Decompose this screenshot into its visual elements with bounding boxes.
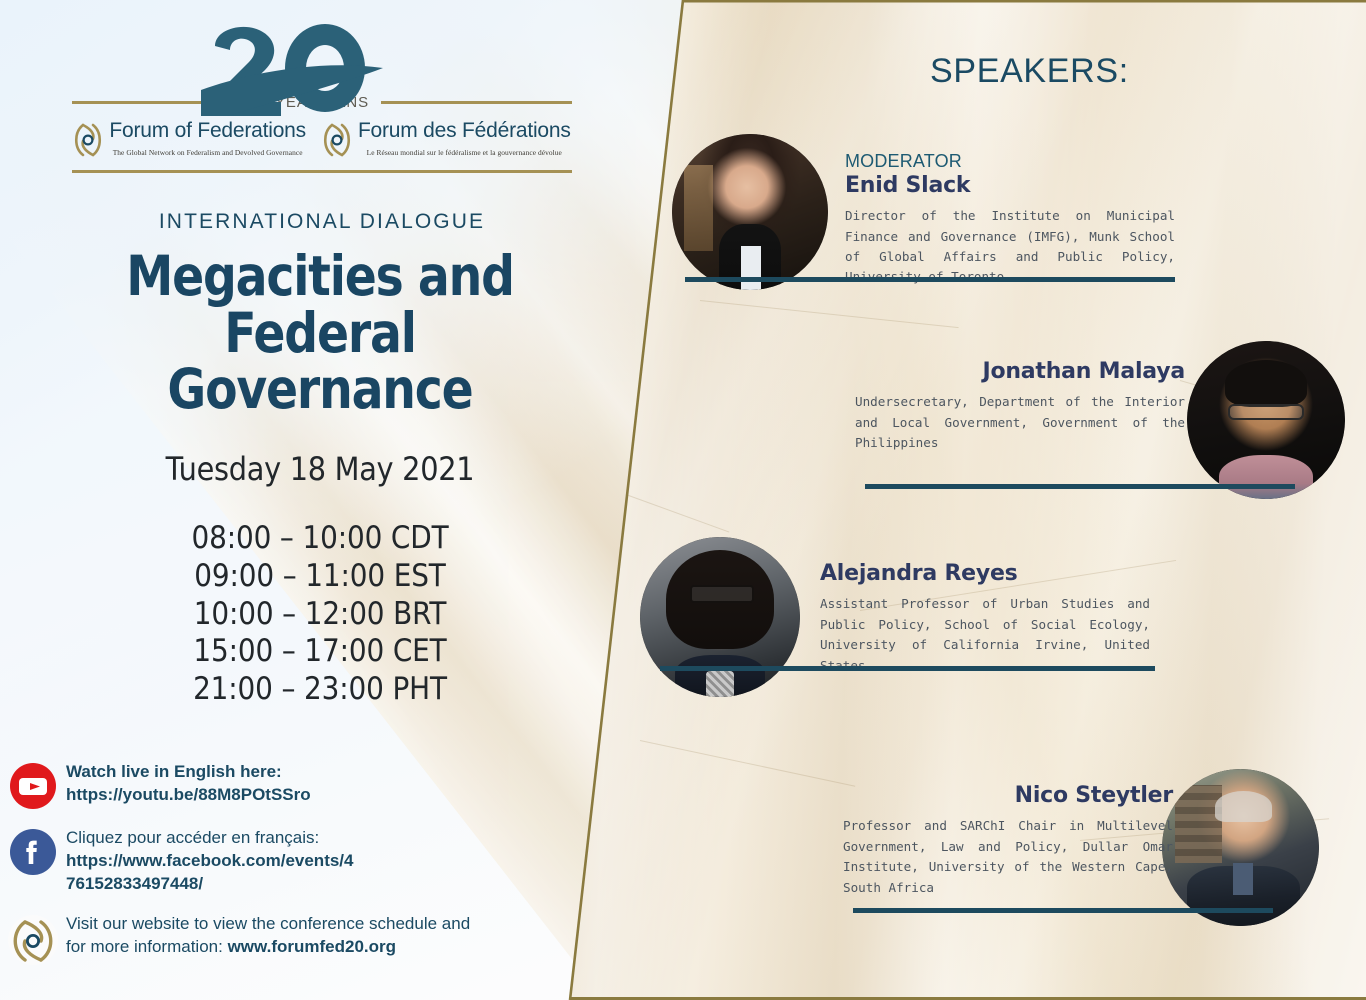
speaker-name: Jonathan Malaya bbox=[855, 359, 1185, 385]
org-name-fr: Forum des Fédérations bbox=[358, 119, 571, 142]
website-label-line1: Visit our website to view the conference… bbox=[66, 914, 470, 933]
speaker-underline-bar bbox=[660, 666, 1155, 671]
speaker-role: MODERATOR bbox=[845, 152, 1175, 172]
forum-of-federations-logo: YEARS/ANS Forum of Federations The Globa… bbox=[72, 24, 572, 173]
speaker-info-enid-slack: MODERATOR Enid Slack Director of the Ins… bbox=[845, 152, 1175, 288]
facebook-link-row[interactable]: Cliquez pour accéder en français: https:… bbox=[0, 826, 560, 896]
facebook-link-url-line2[interactable]: 76152833497448/ bbox=[66, 874, 203, 893]
speaker-bio: Assistant Professor of Urban Studies and… bbox=[820, 594, 1150, 676]
speakers-heading: SPEAKERS: bbox=[930, 52, 1129, 91]
time-row: 10:00 – 12:00 BRT bbox=[68, 596, 572, 634]
website-link-text[interactable]: Visit our website to view the conference… bbox=[66, 912, 470, 959]
event-date: Tuesday 18 May 2021 bbox=[68, 450, 572, 488]
event-title: Megacities and Federal Governance bbox=[79, 248, 561, 418]
event-times-list: 08:00 – 10:00 CDT 09:00 – 11:00 EST 10:0… bbox=[68, 520, 572, 709]
event-title-line2: Federal Governance bbox=[79, 305, 561, 418]
speaker-photo-enid-slack bbox=[672, 134, 828, 290]
logo-bottom-rule bbox=[72, 170, 572, 173]
event-title-line1: Megacities and bbox=[79, 248, 561, 305]
time-row: 09:00 – 11:00 EST bbox=[68, 558, 572, 596]
anniversary-20-mark bbox=[72, 24, 572, 116]
facebook-link-label: Cliquez pour accéder en français: bbox=[66, 828, 319, 847]
facebook-link-text[interactable]: Cliquez pour accéder en français: https:… bbox=[66, 826, 354, 896]
speaker-info-alejandra-reyes: Alejandra Reyes Assistant Professor of U… bbox=[820, 560, 1150, 676]
org-tagline-en: The Global Network on Federalism and Dev… bbox=[113, 148, 303, 157]
speaker-photo-jonathan-malaya bbox=[1187, 341, 1345, 499]
speaker-name: Nico Steytler bbox=[843, 783, 1173, 809]
speaker-info-nico-steytler: Nico Steytler Professor and SARChI Chair… bbox=[843, 782, 1173, 898]
time-row: 21:00 – 23:00 PHT bbox=[68, 671, 572, 709]
org-name-en: Forum of Federations bbox=[109, 119, 306, 142]
logo-english: Forum of Federations The Global Network … bbox=[65, 120, 314, 160]
forum-fed-icon[interactable] bbox=[0, 912, 66, 966]
website-url[interactable]: www.forumfed20.org bbox=[228, 937, 396, 956]
facebook-link-url-line1[interactable]: https://www.facebook.com/events/4 bbox=[66, 851, 354, 870]
youtube-link-row[interactable]: Watch live in English here: https://yout… bbox=[0, 760, 560, 810]
speaker-bio: Director of the Institute on Municipal F… bbox=[845, 206, 1175, 288]
speaker-underline-bar bbox=[853, 908, 1273, 913]
logo-name-row: Forum of Federations The Global Network … bbox=[72, 119, 572, 161]
poster-canvas: YEARS/ANS Forum of Federations The Globa… bbox=[0, 0, 1366, 1000]
speaker-photo-alejandra-reyes bbox=[640, 537, 800, 697]
forum-fed-emblem-icon bbox=[322, 121, 352, 159]
speaker-bio: Undersecretary, Department of the Interi… bbox=[855, 392, 1185, 453]
links-section: Watch live in English here: https://yout… bbox=[0, 760, 560, 982]
speaker-name: Alejandra Reyes bbox=[820, 561, 1150, 587]
speaker-info-jonathan-malaya: Jonathan Malaya Undersecretary, Departme… bbox=[855, 358, 1185, 454]
speaker-bio: Professor and SARChI Chair in Multilevel… bbox=[843, 816, 1173, 898]
logo-french: Forum des Fédérations Le Réseau mondial … bbox=[314, 120, 579, 160]
website-link-row[interactable]: Visit our website to view the conference… bbox=[0, 912, 560, 966]
speaker-photo-nico-steytler bbox=[1162, 769, 1319, 926]
forum-fed-emblem-icon bbox=[73, 121, 103, 159]
event-kicker: INTERNATIONAL DIALOGUE bbox=[72, 210, 572, 234]
org-tagline-fr: Le Réseau mondial sur le fédéralisme et … bbox=[367, 148, 562, 157]
speaker-name: Enid Slack bbox=[845, 173, 1175, 199]
facebook-icon[interactable] bbox=[0, 826, 66, 876]
youtube-link-text[interactable]: Watch live in English here: https://yout… bbox=[66, 760, 311, 807]
youtube-icon[interactable] bbox=[0, 760, 66, 810]
youtube-link-label: Watch live in English here: bbox=[66, 762, 282, 781]
speaker-underline-bar bbox=[685, 277, 1175, 282]
time-row: 08:00 – 10:00 CDT bbox=[68, 520, 572, 558]
youtube-link-url[interactable]: https://youtu.be/88M8POtSSro bbox=[66, 785, 311, 804]
time-row: 15:00 – 17:00 CET bbox=[68, 633, 572, 671]
website-label-line2-prefix: for more information: bbox=[66, 937, 228, 956]
speaker-underline-bar bbox=[865, 484, 1295, 489]
